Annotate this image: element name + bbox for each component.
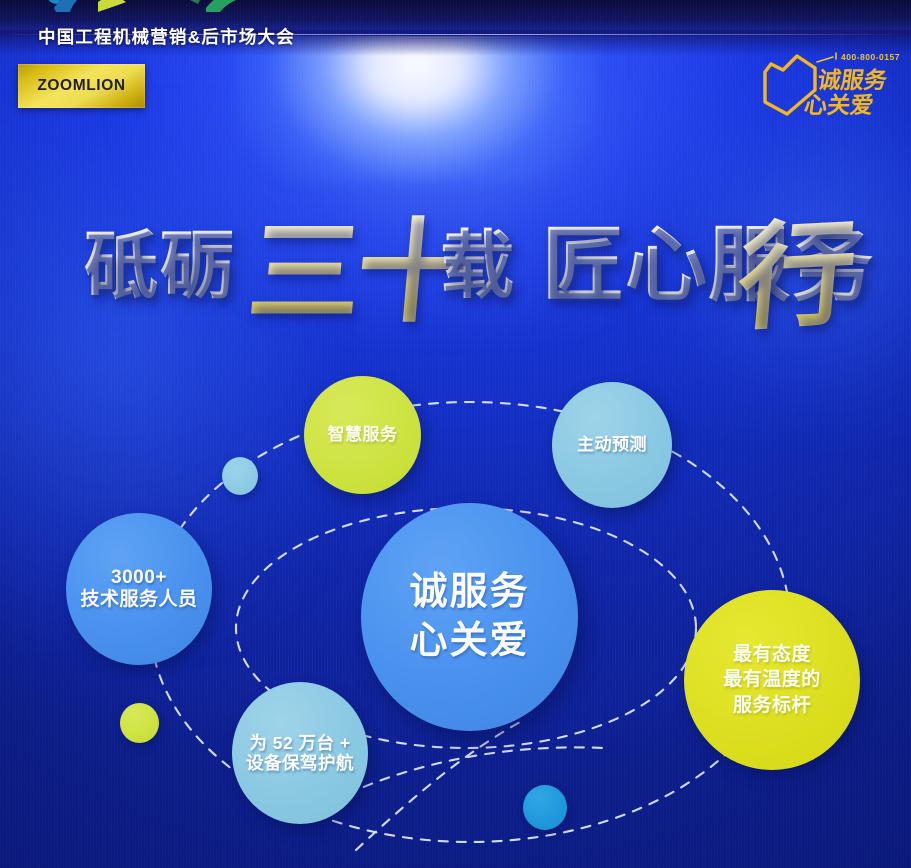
bubble-smart-service[interactable]: 智慧服务 [304,376,421,494]
headline-part-3: 载 [440,206,514,313]
care-service-logo-icon: 400-800-0157 诚服务 心关爱 [757,44,907,120]
care-logo-line1: 诚服务 [816,67,890,94]
accent-dot-lime [120,703,159,743]
bubble-service-benchmark-label: 最有态度 最有温度的 服务标杆 [717,642,827,718]
zoomlion-wordmark: ZOOMLION [37,77,125,95]
bubble-smart-service-label: 智慧服务 [322,425,404,445]
stage-backdrop: 中国工程机械营销&后市场大会 ZOOMLION 400-800-0157 诚服务… [0,0,911,868]
bubble-diagram: 智慧服务 主动预测 3000+ 技术服务人员 诚服务 心关爱 为 52 万台 +… [0,350,911,868]
center-line-1: 诚服务 [409,568,529,617]
bubble-center-slogan-label: 诚服务 心关爱 [403,568,535,665]
center-line-2: 心关爱 [409,617,529,666]
main-headline: 砥砺 三十 载 匠心服务 行 [72,176,862,346]
event-title: 中国工程机械营销&后市场大会 [38,24,295,49]
bubble-equipment-count-label: 为 52 万台 + 设备保驾护航 [240,733,360,774]
partner-logos-icon [40,0,280,12]
headline-part-5: 行 [732,179,863,353]
bubble-staff-count[interactable]: 3000+ 技术服务人员 [66,513,212,665]
care-service-logo: 400-800-0157 诚服务 心关爱 [757,44,907,120]
orbit-arc-diagonal [356,722,520,850]
zoomlion-logo-plate: ZOOMLION [18,64,145,108]
headline-part-2: 三十 [243,182,473,344]
headline-part-1: 砥砺 [84,206,236,313]
bubble-staff-count-label: 3000+ 技术服务人员 [74,567,203,611]
bubble-service-benchmark[interactable]: 最有态度 最有温度的 服务标杆 [684,590,860,770]
bubble-proactive-prediction[interactable]: 主动预测 [552,382,672,508]
bubble-center-slogan[interactable]: 诚服务 心关爱 [361,503,578,731]
bubble-proactive-prediction-label: 主动预测 [571,435,653,455]
care-logo-hotline: 400-800-0157 [841,52,900,62]
accent-dot-cyan [523,785,567,830]
bubble-equipment-count[interactable]: 为 52 万台 + 设备保驾护航 [232,682,368,824]
partner-logos-strip [40,0,280,12]
care-logo-line2: 心关爱 [802,92,875,119]
accent-dot-lightblue [222,457,258,495]
